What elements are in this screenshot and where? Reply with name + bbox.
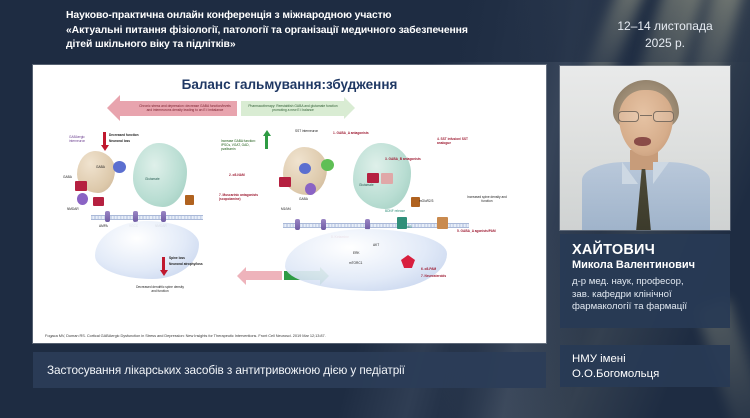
slide-citation: Fogaca MV, Duman RS. Cortical GABAergic … bbox=[45, 333, 535, 338]
diagram-label-drug-3-gabab-antagonists: 3. GABA_B antagonists bbox=[385, 157, 425, 161]
diagram-label-bdnf-release: BDNF release bbox=[385, 209, 405, 213]
diagram-label-glutamate-left: Glutamate bbox=[145, 177, 160, 181]
diagram-label-akt: AKT bbox=[373, 243, 379, 247]
receptor-blue-right bbox=[299, 163, 311, 174]
conference-title: Науково-практична онлайн конференція з м… bbox=[66, 9, 546, 53]
diagram-banner-left: Chronic stress and depression: decrease … bbox=[119, 101, 237, 116]
conference-dates: 12–14 листопада 2025 р. bbox=[590, 18, 740, 52]
decreased-function-arrow-icon bbox=[103, 132, 106, 146]
diagram-label-drug-7-muscarinic-antagonists: 7. Muscarinic antagonists (scopolamine) bbox=[219, 193, 261, 201]
diagram-banner-right: Pharmacotherapy: Reestablish GABA and gl… bbox=[241, 101, 345, 116]
receptor-sst-right bbox=[321, 159, 334, 171]
diagram-label-gaba-left-2: GABA bbox=[96, 165, 105, 169]
spine-loss-arrow-icon bbox=[162, 257, 165, 271]
diagram-label-nmdar-left: NMDAR bbox=[67, 207, 79, 211]
receptor-gabab-right bbox=[305, 183, 316, 195]
diagram-label-neuronal-atrophy: Neuronal atrophy/loss bbox=[169, 262, 203, 266]
channel-ampa-right bbox=[295, 219, 300, 230]
speaker-given-name: Микола Валентинович bbox=[572, 259, 720, 271]
diagram-label-decreased-function: Decreased function bbox=[109, 133, 145, 137]
receptor-pink-right bbox=[381, 173, 393, 184]
diagram-label-drug-2-a5-nam: 2. α5-NAM bbox=[229, 173, 263, 177]
transition-arrow-pink-icon bbox=[246, 271, 282, 280]
speaker-mouth bbox=[634, 137, 651, 146]
channel-nmdar-left bbox=[161, 211, 166, 222]
diagram-label-drug-5-gabaa-agonists: 5. GABA_A agonists/PAM bbox=[457, 229, 497, 233]
institution-card: НМУ імені О.О.Богомольця bbox=[560, 345, 730, 387]
diagram-label-gaba-left-1: GABA bbox=[63, 175, 72, 179]
caption-bar: Застосування лікарських засобів з антитр… bbox=[33, 352, 546, 388]
presentation-slide[interactable]: Баланс гальмування:збудження Chronic str… bbox=[33, 65, 546, 343]
glasses-lens-left bbox=[618, 111, 639, 122]
diagram-label-spine-loss: Spine loss bbox=[169, 256, 185, 260]
conference-title-line-2: «Актуальні питання фізіології, патології… bbox=[66, 24, 546, 39]
diagram-label-trkb: TrkB bbox=[405, 225, 412, 229]
speaker-collar-left bbox=[622, 162, 638, 184]
conference-title-line-1: Науково-практична онлайн конференція з м… bbox=[66, 9, 546, 24]
channel-vgcc-right bbox=[321, 219, 326, 230]
diagram-label-neuronal-loss: Neuronal loss bbox=[109, 139, 145, 143]
diagram-label-sst-interneuron: SST interneuron bbox=[295, 129, 318, 133]
slide-title: Баланс гальмування:збудження bbox=[33, 77, 546, 92]
diagram-label-decreased-spine-density: Decreased dendritic spine density and fu… bbox=[133, 285, 187, 293]
diagram-label-drug-1-gabaa-antagonists: 1. GABA_A antagonists bbox=[333, 131, 371, 135]
glasses-bridge bbox=[640, 115, 652, 116]
receptor-gabaa-right bbox=[279, 177, 291, 187]
diagram-label-erk: ERK bbox=[353, 251, 360, 255]
increase-function-arrow-icon bbox=[265, 135, 268, 149]
diagram-label-ampa-left: AMPA bbox=[99, 224, 108, 228]
conference-dates-line-1: 12–14 листопада bbox=[590, 18, 740, 35]
caption-text: Застосування лікарських засобів з антитр… bbox=[33, 363, 405, 377]
diagram-label-drug-4-sst-infusion: 4. SST infusion/ SST analogue bbox=[437, 137, 475, 145]
diagram-label-gaba-right: GABA bbox=[299, 197, 308, 201]
diagram-label-glutamate-right: Glutamate bbox=[359, 183, 374, 187]
receptor-red-right bbox=[367, 173, 379, 183]
channel-vgcc-left bbox=[133, 211, 138, 222]
glasses-icon bbox=[617, 111, 675, 122]
slide-diagram: Chronic stress and depression: decrease … bbox=[33, 99, 546, 314]
soma-left bbox=[95, 221, 199, 279]
channel-ampa-left bbox=[105, 211, 110, 222]
diagram-label-increase-gaba-function: Increase GABA function: IPSCs, VGAT, GAD… bbox=[221, 139, 259, 151]
receptor-gabaa-left bbox=[75, 181, 87, 191]
neuron-glutamate-left bbox=[133, 143, 187, 207]
soma-right bbox=[285, 229, 447, 291]
speaker-video-feed[interactable] bbox=[560, 66, 730, 230]
speaker-info-card: ХАЙТОВИЧ Микола Валентинович д-р мед. на… bbox=[560, 234, 730, 328]
speaker-collar-right bbox=[653, 162, 669, 184]
diagram-label-mglur23: mGluR2/3 bbox=[419, 199, 433, 203]
glasses-lens-right bbox=[653, 111, 674, 122]
receptor-gabaa-postsynaptic-right bbox=[437, 217, 448, 229]
diagram-label-drug-6-a5-pam: 6. α5-PAM bbox=[421, 267, 455, 271]
diagram-label-increased-spine-density: Increased spine density and function bbox=[463, 195, 511, 203]
diagram-label-m1-m4: M1/M4 bbox=[281, 207, 291, 211]
diagram-label-gabaergic-interneuron: GABAergic interneuron bbox=[69, 135, 99, 143]
receptor-mglur-left bbox=[185, 195, 194, 205]
speaker-surname: ХАЙТОВИЧ bbox=[572, 242, 720, 258]
receptor-nmdar-left bbox=[93, 197, 104, 206]
diagram-label-drug-7-neurosteroids: 7. Neurosteroids bbox=[421, 274, 459, 278]
conference-dates-line-2: 2025 р. bbox=[590, 35, 740, 52]
conference-title-line-3: дітей шкільного віку та підлітків» bbox=[66, 38, 546, 53]
institution-name: НМУ імені О.О.Богомольця bbox=[572, 352, 720, 381]
receptor-sst-left bbox=[113, 161, 126, 173]
diagram-label-mtorc1: mTORC1 bbox=[349, 261, 362, 265]
speaker-position: д-р мед. наук, професор, зав. кафедри кл… bbox=[572, 276, 720, 314]
receptor-gabab-left bbox=[77, 193, 88, 205]
